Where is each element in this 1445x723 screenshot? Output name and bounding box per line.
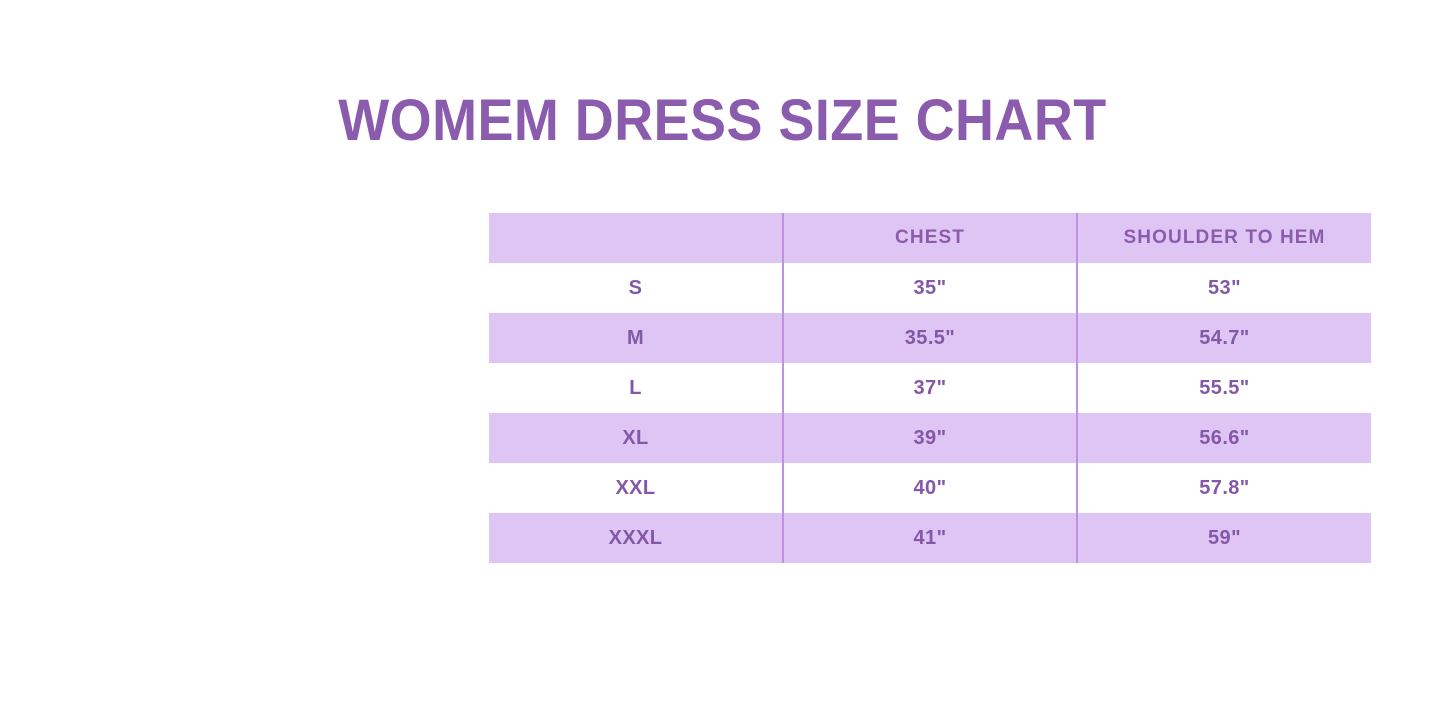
cell-shoulder-to-hem: 54.7": [1077, 313, 1371, 363]
cell-size: XXXL: [489, 513, 783, 563]
cell-size: M: [489, 313, 783, 363]
cell-chest: 35.5": [783, 313, 1077, 363]
table-row: L 37" 55.5": [489, 363, 1371, 413]
cell-shoulder-to-hem: 59": [1077, 513, 1371, 563]
table-row: S 35" 53": [489, 263, 1371, 313]
page-title: WOMEM DRESS SIZE CHART: [51, 91, 1395, 152]
cell-shoulder-to-hem: 55.5": [1077, 363, 1371, 413]
cell-size: XL: [489, 413, 783, 463]
cell-shoulder-to-hem: 56.6": [1077, 413, 1371, 463]
table-row: XXXL 41" 59": [489, 513, 1371, 563]
cell-chest: 39": [783, 413, 1077, 463]
column-header-shoulder-to-hem: SHOULDER TO HEM: [1077, 213, 1371, 263]
cell-shoulder-to-hem: 57.8": [1077, 463, 1371, 513]
table-header-row: CHEST SHOULDER TO HEM: [489, 213, 1371, 263]
cell-chest: 35": [783, 263, 1077, 313]
size-chart-table-container: CHEST SHOULDER TO HEM S 35" 53" M 35.5" …: [489, 213, 1371, 563]
table-row: XXL 40" 57.8": [489, 463, 1371, 513]
table-row: M 35.5" 54.7": [489, 313, 1371, 363]
cell-size: L: [489, 363, 783, 413]
cell-shoulder-to-hem: 53": [1077, 263, 1371, 313]
column-header-size: [489, 213, 783, 263]
cell-size: S: [489, 263, 783, 313]
cell-chest: 41": [783, 513, 1077, 563]
table-row: XL 39" 56.6": [489, 413, 1371, 463]
cell-chest: 40": [783, 463, 1077, 513]
cell-size: XXL: [489, 463, 783, 513]
cell-chest: 37": [783, 363, 1077, 413]
column-header-chest: CHEST: [783, 213, 1077, 263]
size-chart-table: CHEST SHOULDER TO HEM S 35" 53" M 35.5" …: [489, 213, 1371, 563]
table-body: S 35" 53" M 35.5" 54.7" L 37" 55.5" XL 3…: [489, 263, 1371, 563]
